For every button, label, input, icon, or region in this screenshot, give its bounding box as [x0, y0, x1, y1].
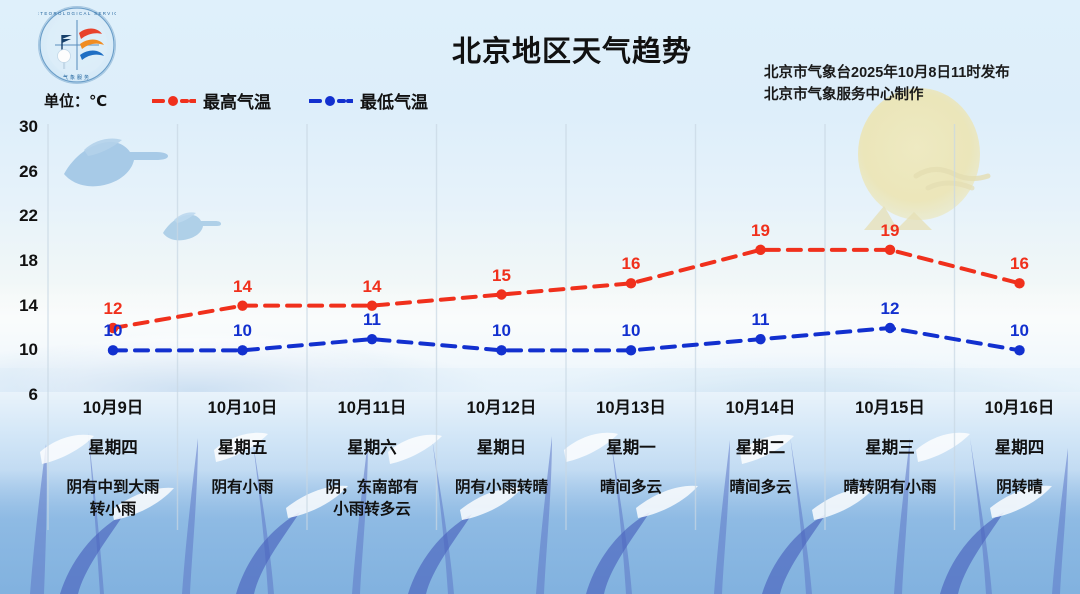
day-weekday: 星期四: [955, 438, 1080, 458]
value-label-high: 19: [881, 221, 900, 241]
day-condition: 阴，东南部有小雨转多云: [307, 477, 437, 521]
value-label-high: 19: [751, 221, 770, 241]
data-point: [1014, 345, 1024, 355]
data-point: [496, 289, 506, 299]
day-date: 10月11日: [307, 398, 437, 418]
data-point: [626, 345, 636, 355]
day-column: 10月12日星期日阴有小雨转晴: [437, 398, 567, 499]
value-label-low: 10: [233, 321, 252, 341]
day-condition: 晴转阴有小雨: [825, 477, 955, 499]
data-point: [755, 245, 765, 255]
value-label-high: 16: [1010, 254, 1029, 274]
data-point: [237, 345, 247, 355]
data-point: [626, 278, 636, 288]
value-label-high: 14: [363, 277, 382, 297]
day-date: 10月9日: [48, 398, 178, 418]
day-condition: 阴转晴: [955, 477, 1080, 499]
data-point: [885, 245, 895, 255]
data-point: [885, 323, 895, 333]
day-date: 10月10日: [178, 398, 308, 418]
day-condition-line: 阴有中到大雨: [48, 477, 178, 499]
weather-trend-poster: METEOROLOGICAL SERVICE 气象服务 北京地区天气趋势 北京市…: [0, 0, 1080, 594]
day-date: 10月16日: [955, 398, 1080, 418]
day-date: 10月15日: [825, 398, 955, 418]
value-label-low: 11: [752, 310, 770, 330]
day-column: 10月11日星期六阴，东南部有小雨转多云: [307, 398, 437, 521]
day-condition-line: 阴，东南部有: [307, 477, 437, 499]
data-point: [496, 345, 506, 355]
value-label-high: 16: [622, 254, 641, 274]
day-condition-line: 阴有小雨转晴: [437, 477, 567, 499]
day-condition: 阴有小雨转晴: [437, 477, 567, 499]
day-condition: 阴有中到大雨转小雨: [48, 477, 178, 521]
day-condition: 阴有小雨: [178, 477, 308, 499]
day-weekday: 星期二: [696, 438, 826, 458]
data-point: [367, 334, 377, 344]
value-label-high: 15: [492, 266, 511, 286]
data-point: [108, 345, 118, 355]
day-column: 10月14日星期二晴间多云: [696, 398, 826, 499]
value-label-low: 10: [1010, 321, 1029, 341]
day-condition-line: 晴转阴有小雨: [825, 477, 955, 499]
day-condition-line: 阴有小雨: [178, 477, 308, 499]
day-date: 10月12日: [437, 398, 567, 418]
day-weekday: 星期六: [307, 438, 437, 458]
value-label-low: 11: [363, 310, 381, 330]
day-column: 10月16日星期四阴转晴: [955, 398, 1080, 499]
value-label-low: 12: [881, 299, 900, 319]
day-condition-line: 阴转晴: [955, 477, 1080, 499]
day-column: 10月9日星期四阴有中到大雨转小雨: [48, 398, 178, 521]
value-label-low: 10: [492, 321, 511, 341]
day-condition-line: 转小雨: [48, 499, 178, 521]
day-weekday: 星期日: [437, 438, 567, 458]
day-condition-line: 晴间多云: [566, 477, 696, 499]
day-weekday: 星期一: [566, 438, 696, 458]
day-column: 10月10日星期五阴有小雨: [178, 398, 308, 499]
data-point: [1014, 278, 1024, 288]
day-condition: 晴间多云: [566, 477, 696, 499]
day-weekday: 星期五: [178, 438, 308, 458]
day-weekday: 星期四: [48, 438, 178, 458]
day-date: 10月13日: [566, 398, 696, 418]
day-column: 10月15日星期三晴转阴有小雨: [825, 398, 955, 499]
data-point: [237, 300, 247, 310]
day-weekday: 星期三: [825, 438, 955, 458]
data-point: [755, 334, 765, 344]
day-condition-line: 小雨转多云: [307, 499, 437, 521]
day-condition: 晴间多云: [696, 477, 826, 499]
value-label-low: 10: [622, 321, 641, 341]
value-label-high: 12: [104, 299, 123, 319]
value-label-low: 10: [104, 321, 123, 341]
value-label-high: 14: [233, 277, 252, 297]
day-condition-line: 晴间多云: [696, 477, 826, 499]
day-date: 10月14日: [696, 398, 826, 418]
day-column: 10月13日星期一晴间多云: [566, 398, 696, 499]
